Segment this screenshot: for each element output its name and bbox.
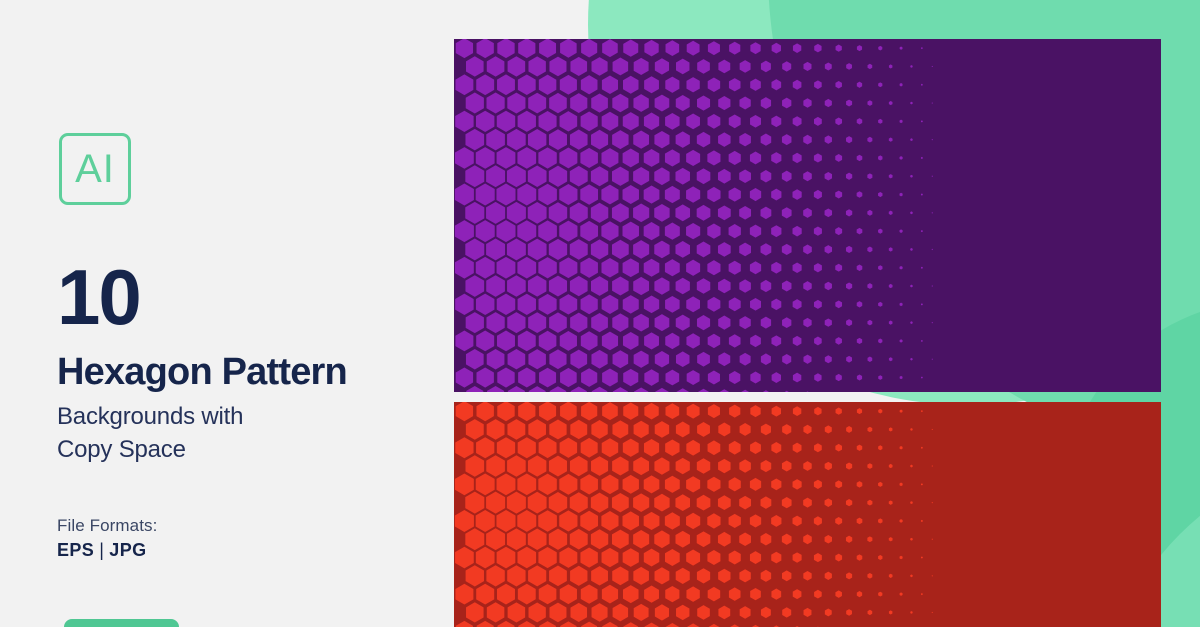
panel-gutter bbox=[454, 392, 577, 402]
info-sidebar: AI 10 Hexagon Pattern Backgrounds with C… bbox=[0, 0, 454, 627]
file-format-separator: | bbox=[94, 540, 109, 560]
promo-banner: AI 10 Hexagon Pattern Backgrounds with C… bbox=[0, 0, 1200, 627]
red-hexagon-panel bbox=[454, 402, 1161, 627]
ai-format-badge: AI bbox=[59, 133, 131, 205]
file-format-jpg: JPG bbox=[109, 540, 146, 560]
purple-hexagon-panel bbox=[454, 39, 1161, 392]
file-formats-label: File Formats: bbox=[57, 516, 157, 536]
item-count: 10 bbox=[57, 258, 140, 336]
file-format-eps: EPS bbox=[57, 540, 94, 560]
file-formats-value: EPS|JPG bbox=[57, 540, 147, 561]
cta-button[interactable] bbox=[64, 619, 179, 627]
ai-badge-label: AI bbox=[75, 149, 115, 189]
red-hexagon-pattern bbox=[454, 402, 1161, 627]
purple-hexagon-pattern bbox=[454, 39, 1161, 392]
page-title: Hexagon Pattern bbox=[57, 352, 347, 394]
page-subtitle-line-2: Copy Space bbox=[57, 433, 243, 466]
page-subtitle-line-1: Backgrounds with bbox=[57, 400, 243, 433]
page-subtitle: Backgrounds with Copy Space bbox=[57, 400, 243, 466]
